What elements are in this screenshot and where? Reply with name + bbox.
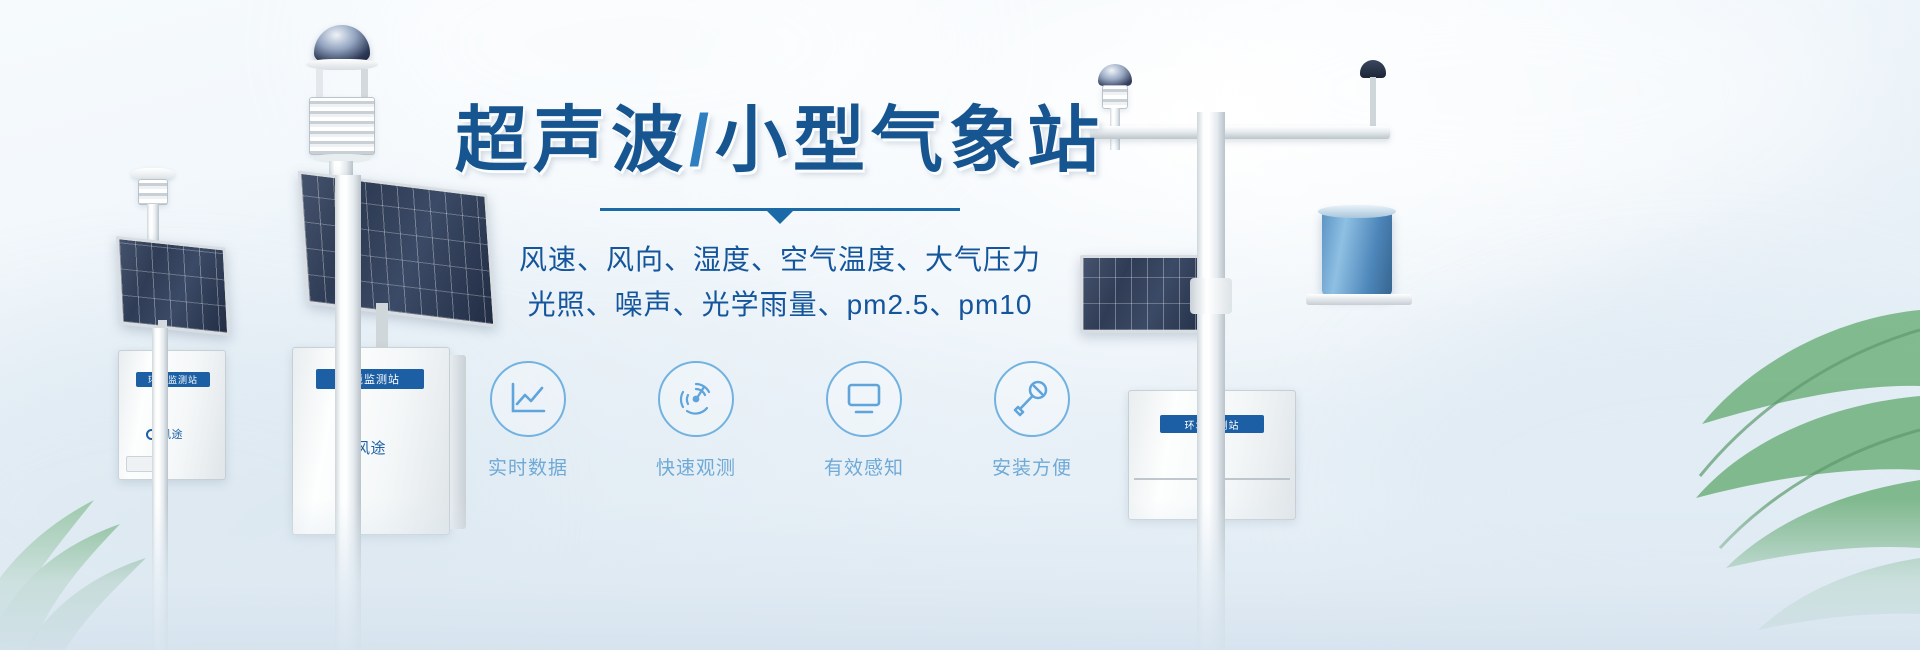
ground-haze: [0, 500, 1920, 650]
feature-item-effective-sensing[interactable]: 有效感知: [809, 361, 919, 480]
feature-icon-circle-1: [490, 361, 566, 437]
rain-gauge-right: [1322, 210, 1392, 296]
feature-item-realtime-data[interactable]: 实时数据: [473, 361, 583, 480]
rain-gauge-shelf-right: [1306, 294, 1412, 305]
solar-panel-left: [116, 236, 230, 336]
wrench-icon: [1011, 378, 1053, 420]
feature-label-2: 快速观测: [641, 453, 751, 480]
rain-gauge-rim-right: [1318, 205, 1396, 218]
page-title: 超声波/小型气象站: [430, 104, 1130, 180]
subtitle-line-1: 风速、风向、湿度、空气温度、大气压力: [430, 237, 1130, 282]
feature-list: 实时数据 快速观: [430, 361, 1130, 480]
anemometer-right: [1360, 60, 1386, 78]
radar-speed-icon: [675, 378, 717, 420]
line-chart-icon: [508, 380, 548, 418]
mast-collar-right: [1190, 278, 1232, 314]
feature-label-3: 有效感知: [809, 453, 919, 480]
feature-icon-circle-3: [826, 361, 902, 437]
title-main: 超声波: [455, 101, 689, 181]
product-banner: 环境监测站 风途 环境监测站 风途: [0, 0, 1920, 650]
sensor-support-leg-b: [361, 69, 368, 99]
ultrasonic-dome-sensor-center: [314, 25, 370, 61]
cross-arm-right: [1090, 126, 1390, 139]
weather-sensor-louver-left: [138, 179, 168, 205]
feature-icon-circle-4: [994, 361, 1070, 437]
banner-copy: 超声波/小型气象站 风速、风向、湿度、空气温度、大气压力 光照、噪声、光学雨量、…: [430, 104, 1130, 480]
ultrasonic-sensor-right-arm-left: [1098, 64, 1132, 86]
feature-item-fast-observation[interactable]: 快速观测: [641, 361, 751, 480]
feature-icon-circle-2: [658, 361, 734, 437]
feature-label-1: 实时数据: [473, 453, 583, 480]
monitor-screen-icon: [843, 381, 885, 417]
sensor-support-leg-a: [316, 69, 323, 99]
radiation-shield-center: [309, 97, 375, 155]
feature-item-easy-install[interactable]: 安装方便: [977, 361, 1087, 480]
feature-label-4: 安装方便: [977, 453, 1087, 480]
subtitle-list: 风速、风向、湿度、空气温度、大气压力 光照、噪声、光学雨量、pm2.5、pm10: [430, 237, 1130, 328]
title-slash: /: [689, 101, 715, 181]
cabinet-label-strip-center: 环境监测站: [316, 369, 424, 389]
title-divider: [600, 208, 960, 211]
subtitle-line-2: 光照、噪声、光学雨量、pm2.5、pm10: [430, 282, 1130, 327]
title-rest: 小型气象站: [715, 101, 1105, 181]
